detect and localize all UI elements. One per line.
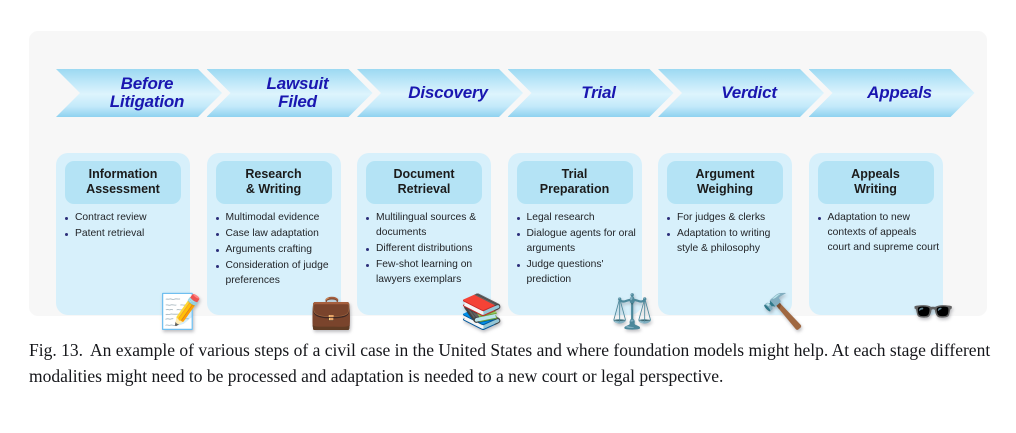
stage-bullet-item: Consideration of judge preferences [214, 259, 340, 289]
stage-card-title: Research & Writing [216, 161, 332, 204]
stage-bullet-list: Multilingual sources & documentsDifferen… [364, 211, 490, 289]
stage-card-title: Trial Preparation [517, 161, 633, 204]
stage-bullet-item: Adaptation to new contexts of appeals co… [816, 211, 942, 256]
stage-bullet-item: Few-shot learning on lawyers exemplars [364, 258, 490, 288]
stage-bullet-item: Adaptation to writing style & philosophy [665, 227, 791, 257]
stage-banner-label: Discovery [408, 84, 487, 102]
stage-bullet-list: Multimodal evidenceCase law adaptationAr… [214, 211, 340, 290]
stage-banner-5[interactable]: Verdict [658, 69, 824, 117]
stage-bullet-item: Multimodal evidence [214, 211, 340, 226]
stage-banner-3[interactable]: Discovery [357, 69, 523, 117]
figure-panel: Before LitigationInformation AssessmentC… [29, 31, 987, 316]
stage-column-6: AppealsAppeals WritingAdaptation to new … [784, 31, 934, 316]
stage-banner-1[interactable]: Before Litigation [56, 69, 222, 117]
stage-card-title: Appeals Writing [818, 161, 934, 204]
stage-bullet-item: Legal research [515, 211, 641, 226]
stage-banner-label: Before Litigation [110, 75, 184, 112]
stage-banner-4[interactable]: Trial [508, 69, 674, 117]
figure-caption: Fig. 13.An example of various steps of a… [29, 338, 991, 390]
stage-bullet-item: Case law adaptation [214, 227, 340, 242]
stage-card-title: Document Retrieval [366, 161, 482, 204]
handcuffs-icon: 🕶️ [912, 295, 954, 329]
stage-bullet-item: Arguments crafting [214, 243, 340, 258]
stage-bullet-item: For judges & clerks [665, 211, 791, 226]
stage-column-4: TrialTrial PreparationLegal researchDial… [483, 31, 633, 316]
stage-card-title: Information Assessment [65, 161, 181, 204]
stage-column-1: Before LitigationInformation AssessmentC… [31, 31, 181, 316]
stage-bullet-item: Dialogue agents for oral arguments [515, 227, 641, 257]
stage-card-1[interactable]: Information AssessmentContract reviewPat… [56, 153, 190, 315]
stage-bullet-item: Patent retrieval [63, 227, 189, 242]
stage-bullet-list: Legal researchDialogue agents for oral a… [515, 211, 641, 289]
stage-banner-label: Verdict [721, 84, 777, 102]
stage-bullet-list: Adaptation to new contexts of appeals co… [816, 211, 942, 257]
stage-bullet-list: For judges & clerksAdaptation to writing… [665, 211, 791, 258]
stage-column-3: DiscoveryDocument RetrievalMultilingual … [332, 31, 482, 316]
stage-card-3[interactable]: Document RetrievalMultilingual sources &… [357, 153, 491, 315]
stage-column-2: Lawsuit FiledResearch & WritingMultimoda… [182, 31, 332, 316]
stage-banner-6[interactable]: Appeals [809, 69, 975, 117]
stage-banner-label: Lawsuit Filed [267, 75, 329, 112]
stage-card-title: Argument Weighing [667, 161, 783, 204]
stage-bullet-item: Different distributions [364, 242, 490, 257]
stage-bullet-item: Contract review [63, 211, 189, 226]
stage-banner-label: Appeals [867, 84, 932, 102]
figure-caption-text: An example of various steps of a civil c… [29, 340, 990, 386]
stage-bullet-item: Multilingual sources & documents [364, 211, 490, 241]
stage-column-5: VerdictArgument WeighingFor judges & cle… [633, 31, 783, 316]
stage-bullet-item: Judge questions' prediction [515, 258, 641, 288]
stage-card-5[interactable]: Argument WeighingFor judges & clerksAdap… [658, 153, 792, 315]
stage-card-2[interactable]: Research & WritingMultimodal evidenceCas… [207, 153, 341, 315]
figure-number: Fig. 13. [29, 340, 83, 360]
stage-card-4[interactable]: Trial PreparationLegal researchDialogue … [508, 153, 642, 315]
stage-bullet-list: Contract reviewPatent retrieval [63, 211, 189, 243]
stage-banner-2[interactable]: Lawsuit Filed [207, 69, 373, 117]
stage-card-6[interactable]: Appeals WritingAdaptation to new context… [809, 153, 943, 315]
stage-banner-label: Trial [581, 84, 616, 102]
